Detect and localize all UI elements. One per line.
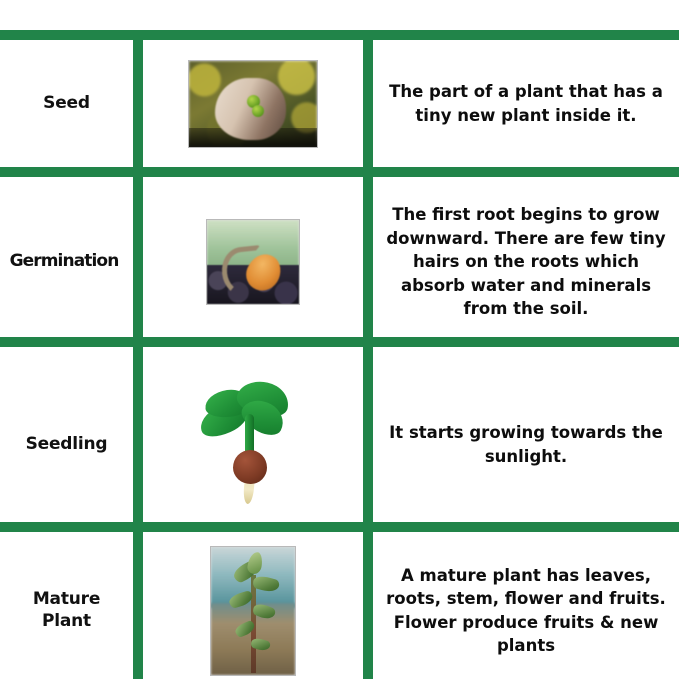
description-cell: The part of a plant that has a tiny new …	[373, 40, 679, 167]
column-divider-spacer	[133, 177, 143, 347]
description-text: The first root begins to grow downward. …	[385, 203, 667, 320]
stage-cell: Mature Plant	[0, 542, 133, 679]
mature-plant-photo	[210, 546, 296, 676]
stage-label: Mature Plant	[33, 589, 100, 632]
column-divider-spacer	[363, 177, 373, 347]
seed-photo-hand-holding-seeds	[188, 60, 318, 148]
table-body: Seed The part of a plant that has a tiny…	[0, 40, 679, 679]
seedling-illustration	[193, 380, 313, 510]
stage-cell: Germination	[0, 177, 133, 347]
stage-label: Seedling	[26, 434, 108, 455]
description-cell: It starts growing towards the sunlight.	[373, 357, 679, 532]
column-divider-spacer	[133, 40, 143, 167]
seed-shape	[233, 450, 267, 484]
plant-life-cycle-table: Seed The part of a plant that has a tiny…	[0, 0, 679, 679]
stage-label: Germination	[0, 251, 131, 272]
description-text: A mature plant has leaves, roots, stem, …	[385, 564, 667, 658]
table-row: Mature Plant A mature	[0, 542, 679, 679]
table-row: Seed The part of a plant that has a tiny…	[0, 40, 679, 167]
description-cell: A mature plant has leaves, roots, stem, …	[373, 542, 679, 679]
seed-shape-2	[252, 105, 264, 117]
germination-photo-sprouting-seed	[206, 219, 300, 305]
stage-cell: Seedling	[0, 357, 133, 532]
column-divider-spacer	[363, 542, 373, 679]
image-cell	[143, 177, 363, 347]
image-cell	[143, 40, 363, 167]
table-row: Germination The first root begins to gro…	[0, 177, 679, 347]
grid-line-horizontal-top	[0, 30, 679, 40]
table-row: Seedling It starts growing towards the s…	[0, 357, 679, 532]
image-cell	[143, 542, 363, 679]
image-cell	[143, 357, 363, 532]
column-divider-spacer	[133, 542, 143, 679]
description-text: It starts growing towards the sunlight.	[385, 421, 667, 468]
column-divider-spacer	[133, 357, 143, 532]
hand-shape	[215, 78, 287, 140]
stage-label: Seed	[43, 93, 90, 114]
description-text: The part of a plant that has a tiny new …	[385, 80, 667, 127]
column-divider-spacer	[363, 40, 373, 167]
column-divider-spacer	[363, 357, 373, 532]
description-cell: The first root begins to grow downward. …	[373, 177, 679, 347]
stage-cell: Seed	[0, 40, 133, 167]
